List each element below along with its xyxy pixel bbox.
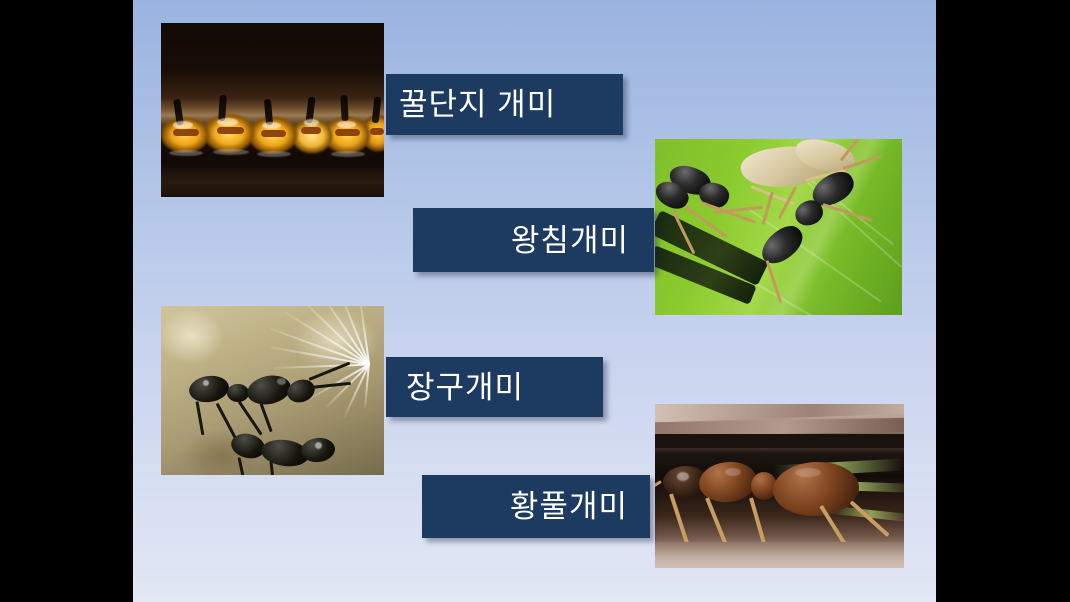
- green-leaf-ants-photo: [655, 139, 902, 315]
- bark-brown-ant-photo: [655, 404, 904, 568]
- letterbox-bar-right: [936, 0, 1070, 602]
- label-box-honeypot-ant[interactable]: 꿀단지 개미: [386, 74, 623, 135]
- label-box-yellow-grass-ant[interactable]: 황풀개미: [422, 475, 650, 538]
- slide-canvas: 꿀단지 개미 왕침개미 장구개미 황풀개미: [133, 0, 936, 602]
- letterbox-bar-left: [0, 0, 133, 602]
- presentation-screen: 꿀단지 개미 왕침개미 장구개미 황풀개미: [0, 0, 1070, 602]
- label-text-giant-sting-ant: 왕침개미: [511, 225, 629, 256]
- label-box-giant-sting-ant[interactable]: 왕침개미: [413, 208, 654, 272]
- honeypot-nest-photo: [161, 23, 384, 197]
- sepia-sand-ant-photo: [161, 306, 384, 475]
- label-box-janggu-ant[interactable]: 장구개미: [386, 357, 603, 417]
- label-text-yellow-grass-ant: 황풀개미: [510, 491, 628, 522]
- label-text-honeypot-ant: 꿀단지 개미: [399, 89, 556, 120]
- label-text-janggu-ant: 장구개미: [406, 372, 524, 403]
